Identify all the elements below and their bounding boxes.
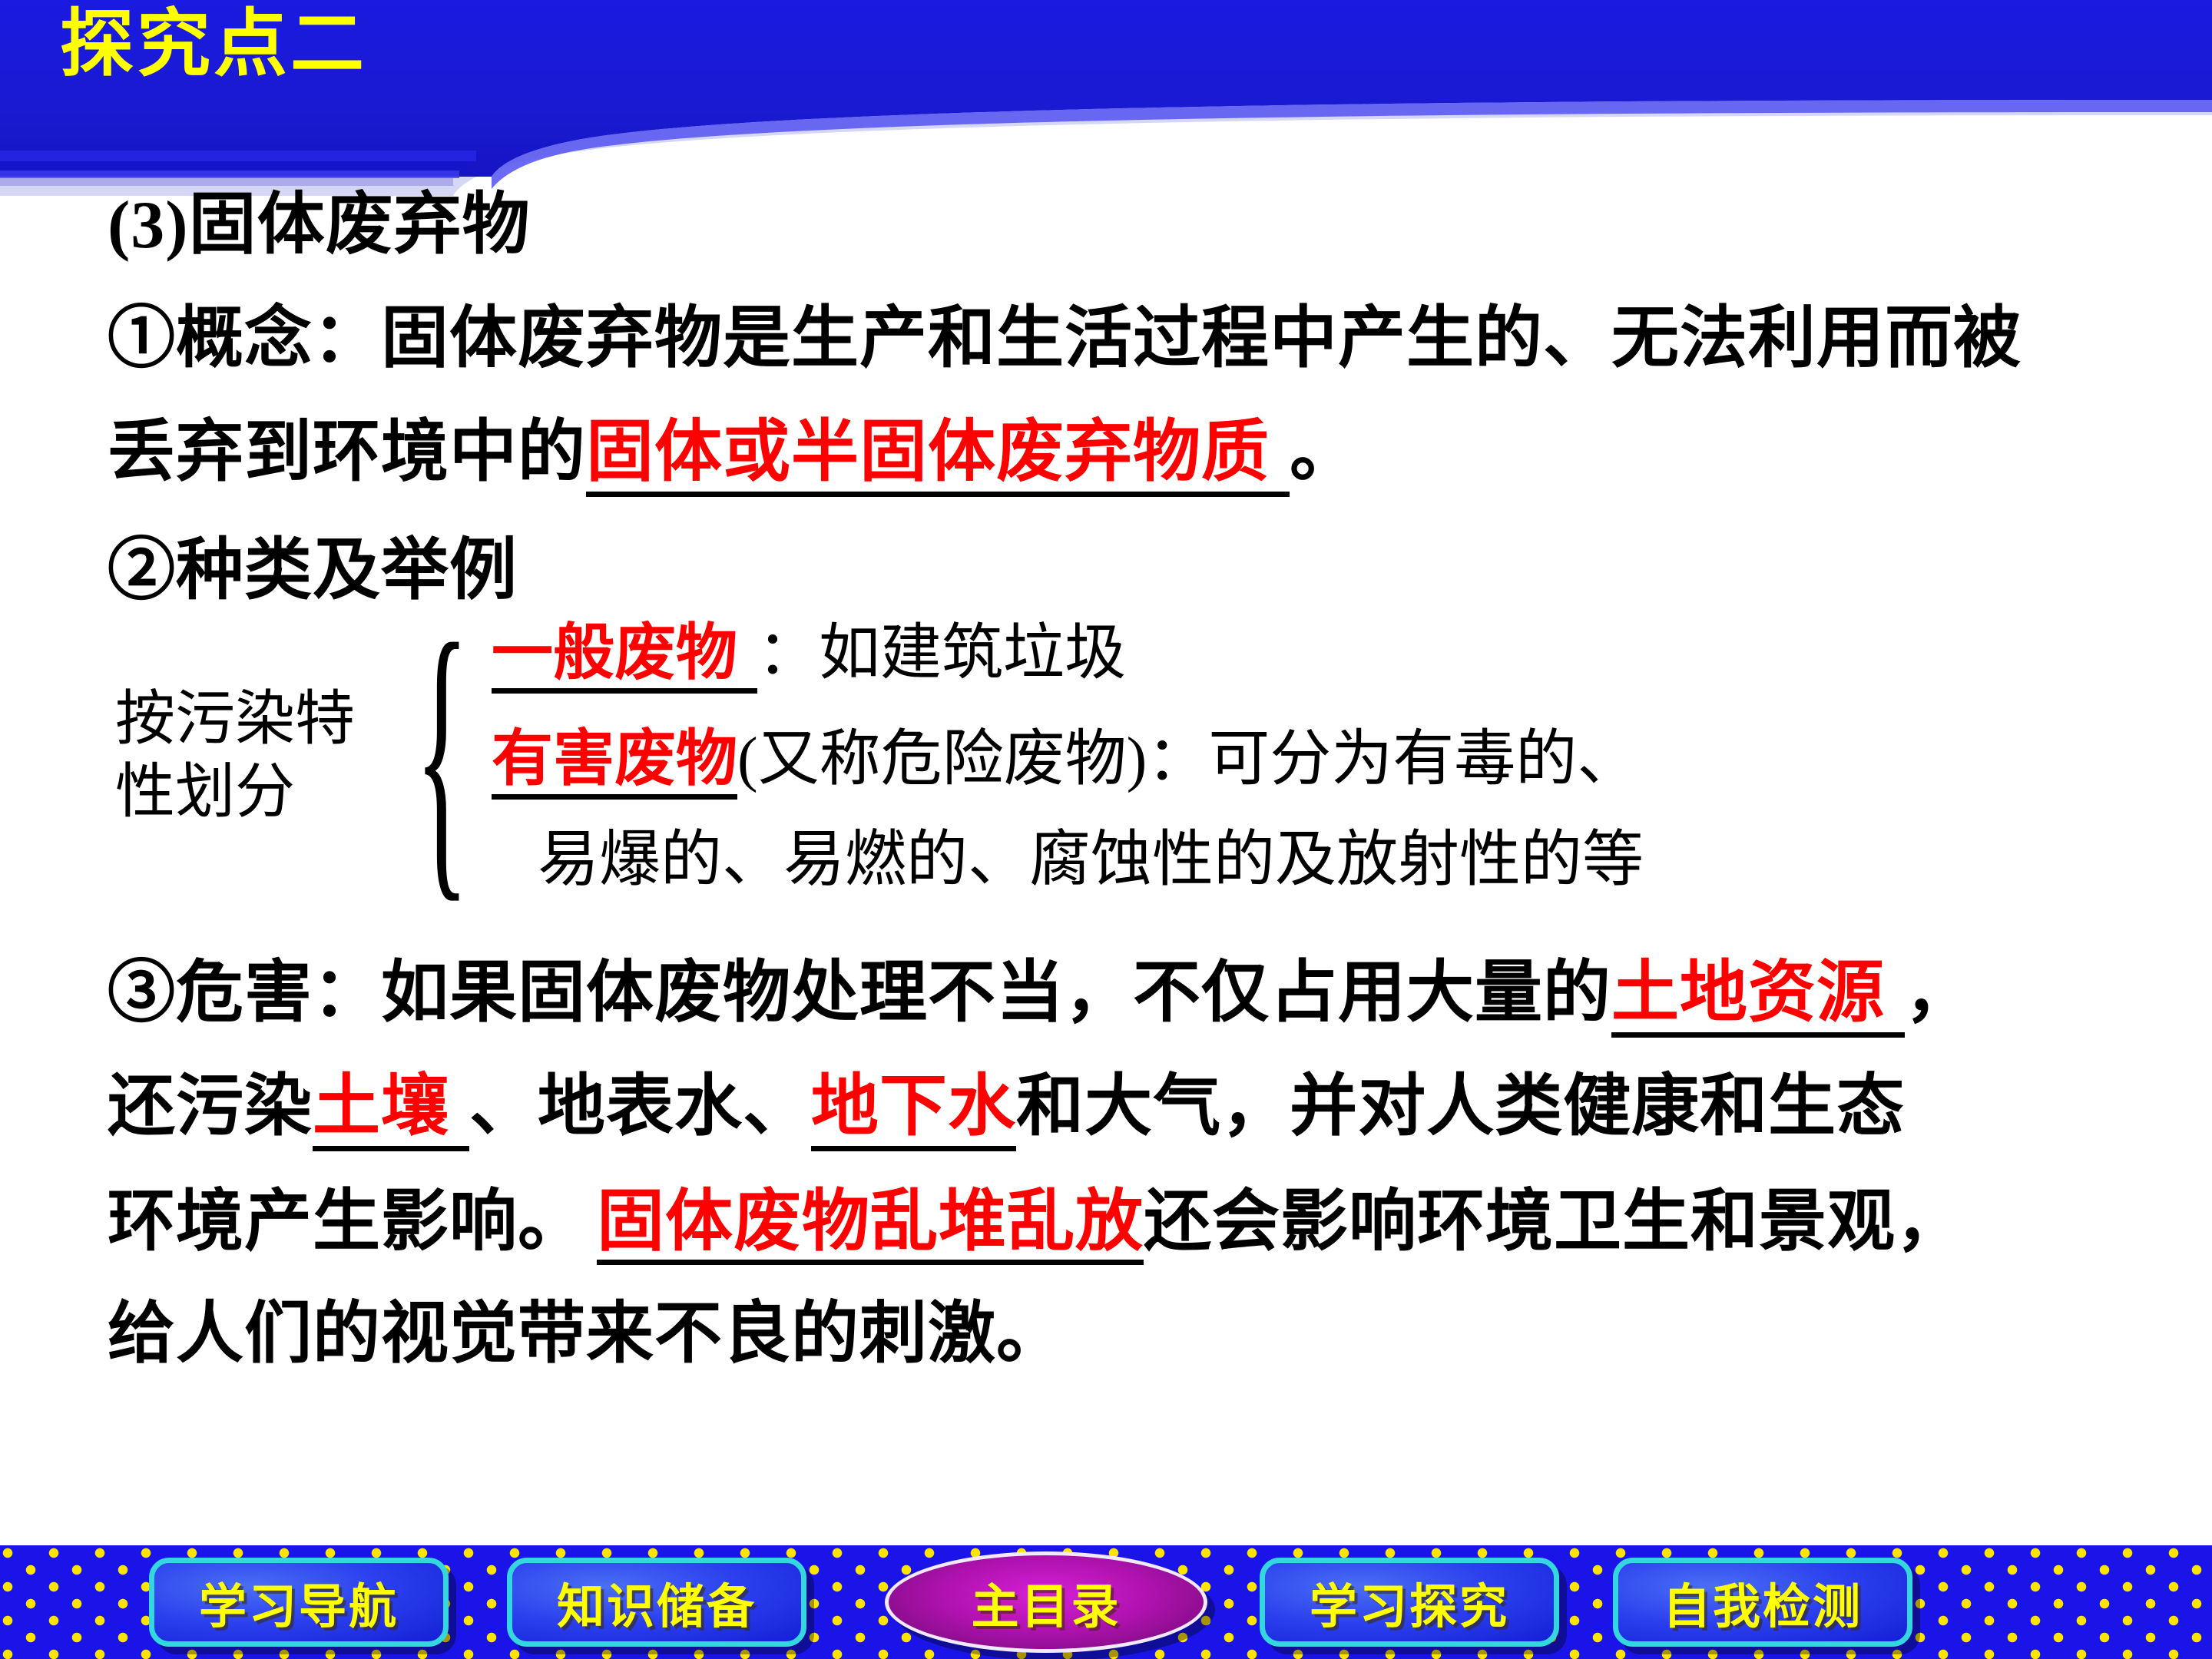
concept-blank: 固体或半固体废弃物质 [586, 419, 1290, 497]
nav-button-study-inquiry[interactable]: 学习探究 [1260, 1558, 1559, 1647]
nav-button-main-menu-label: 主目录 [971, 1568, 1121, 1637]
classification-row-2-blank: 有害废物 [492, 728, 737, 800]
harm-line-1-prefix: ③危害：如果固体废物处理不当，不仅占用大量的 [108, 956, 1611, 1031]
concept-line-2-prefix: 丢弃到环境中的 [108, 416, 586, 490]
classification-row-3-rest: 易爆的、易燃的、腐蚀性的及放射性的等 [538, 826, 1644, 894]
harm-line-4: 给人们的视觉带来不良的刺激。 [108, 1301, 1065, 1369]
nav-button-self-test-label: 自我检测 [1663, 1568, 1863, 1637]
harm-line-3-prefix: 环境产生影响。 [108, 1185, 586, 1260]
concept-line-1: ①概念：固体废弃物是生产和生活过程中产生的、无法利用而被 [108, 306, 2022, 373]
harm-line-3: 环境产生影响。固体废物乱堆乱放还会影响环境卫生和景观， [108, 1187, 1964, 1265]
classification-row-1-blank: 一般废物 [492, 622, 757, 694]
nav-button-study-guide[interactable]: 学习导航 [149, 1558, 449, 1647]
classification-group: 按污染特 性划分 { 一般废物：如建筑垃圾 有害废物(又称危险废物)：可分为有毒… [0, 628, 2212, 920]
bottom-navigation-bar: 学习导航 知识储备 主目录 学习探究 自我检测 [0, 1545, 2212, 1659]
page-title: 探究点二 [60, 6, 367, 84]
harm-line-3-suffix: 还会影响环境卫生和景观， [1144, 1185, 1964, 1260]
harm-line-1-suffix: ， [1905, 956, 1973, 1031]
harm-line-2-suffix: 和大气，并对人类健康和生态 [1016, 1070, 1905, 1144]
classification-row-1-rest: ：如建筑垃圾 [757, 620, 1126, 687]
nav-button-knowledge-prep[interactable]: 知识储备 [507, 1558, 806, 1647]
concept-line-2: 丢弃到环境中的固体或半固体废弃物质。 [108, 419, 1358, 497]
classification-label: 按污染特 性划分 [115, 682, 355, 828]
curly-brace-icon: { [415, 599, 469, 912]
header-banner: 探究点二 [0, 0, 2212, 196]
harm-blank-soil: 土壤 [313, 1074, 469, 1151]
nav-button-knowledge-prep-label: 知识储备 [557, 1568, 757, 1637]
classification-row-3: 易爆的、易燃的、腐蚀性的及放射性的等 [538, 829, 1644, 891]
harm-line-2-prefix: 还污染 [108, 1070, 313, 1144]
classification-row-2: 有害废物(又称危险废物)：可分为有毒的、 [492, 728, 1638, 800]
nav-button-self-test[interactable]: 自我检测 [1613, 1558, 1912, 1647]
content-heading: (3)固体废弃物 [108, 192, 531, 260]
harm-line-2: 还污染土壤、地表水、地下水和大气，并对人类健康和生态 [108, 1074, 1905, 1151]
slide-content: (3)固体废弃物 ①概念：固体废弃物是生产和生活过程中产生的、无法利用而被 丢弃… [0, 192, 2212, 1528]
concept-line-2-suffix: 。 [1290, 416, 1358, 490]
nav-button-main-menu[interactable]: 主目录 [885, 1551, 1207, 1653]
harm-blank-groundwater: 地下水 [811, 1074, 1016, 1151]
harm-line-1: ③危害：如果固体废物处理不当，不仅占用大量的土地资源， [108, 960, 1973, 1038]
nav-button-study-guide-label: 学习导航 [199, 1568, 399, 1637]
classification-row-1: 一般废物：如建筑垃圾 [492, 622, 1126, 694]
classification-row-2-rest: (又称危险废物)：可分为有毒的、 [737, 726, 1638, 793]
harm-blank-land: 土地资源 [1611, 960, 1905, 1038]
harm-blank-piles: 固体废物乱堆乱放 [597, 1187, 1144, 1265]
harm-line-2-mid: 、地表水、 [469, 1070, 811, 1144]
nav-button-study-inquiry-label: 学习探究 [1310, 1568, 1509, 1637]
